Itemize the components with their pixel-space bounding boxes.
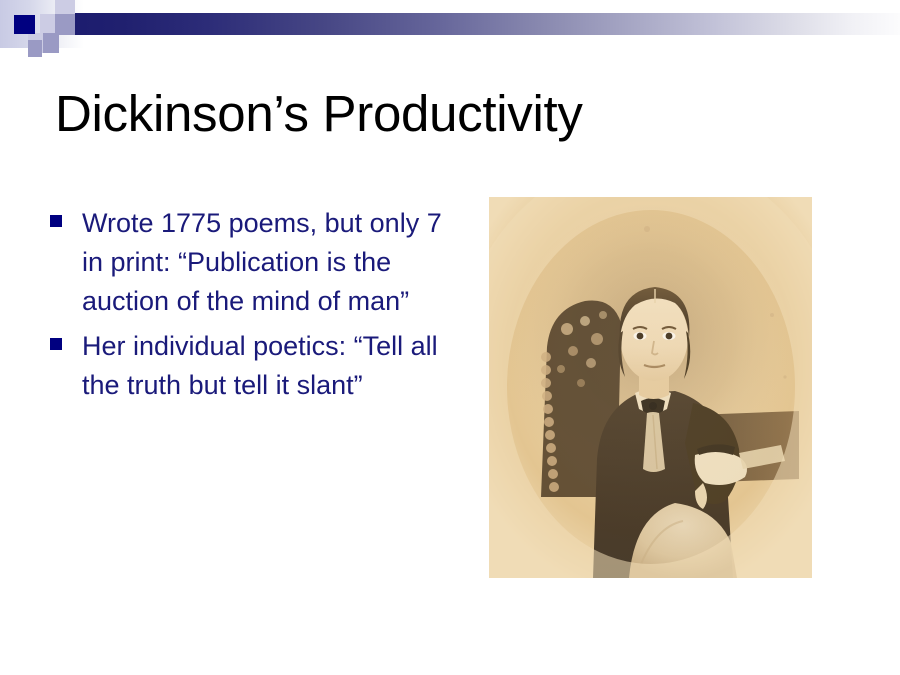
header-square-dark-navy — [14, 15, 35, 34]
portrait-illustration — [489, 197, 812, 578]
square-bullet-icon — [50, 215, 62, 227]
header-square-mid-bottom — [28, 40, 42, 57]
list-item: Her individual poetics: “Tell all the tr… — [50, 327, 450, 405]
header-square-mid-upper — [55, 14, 75, 35]
square-bullet-icon — [50, 338, 62, 350]
slide-body: Wrote 1775 poems, but only 7 in print: “… — [50, 204, 450, 411]
header-square-light-upper-left — [40, 14, 56, 35]
emily-dickinson-portrait — [489, 197, 812, 578]
slide-title: Dickinson’s Productivity — [55, 84, 855, 144]
list-item: Wrote 1775 poems, but only 7 in print: “… — [50, 204, 450, 321]
slide: Dickinson’s Productivity Wrote 1775 poem… — [0, 0, 900, 675]
bullet-text: Her individual poetics: “Tell all the tr… — [82, 327, 450, 405]
header-gradient-bar — [55, 13, 900, 35]
header-decoration — [0, 0, 900, 60]
header-square-mid-lower — [43, 33, 59, 53]
bullet-text: Wrote 1775 poems, but only 7 in print: “… — [82, 204, 450, 321]
